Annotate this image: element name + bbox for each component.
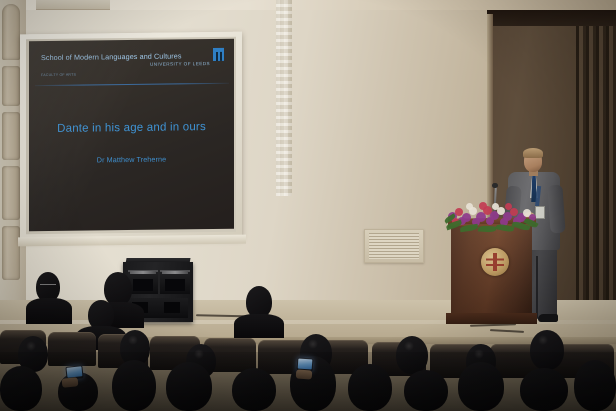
- podium-emblem: [481, 248, 509, 276]
- speaker-hair: [523, 148, 543, 158]
- foliage-frond: [460, 224, 479, 232]
- podium-emblem-characters: [486, 253, 504, 271]
- flower-bloom: [492, 203, 499, 210]
- audience-head: [0, 366, 42, 411]
- podium-base: [446, 313, 537, 324]
- loudspeaker-port: [133, 279, 153, 291]
- phone-screen: [298, 359, 313, 370]
- arch-moulding: [2, 66, 20, 106]
- slide-title: Dante in his age and in ours: [29, 121, 234, 136]
- hair-highlight: [404, 341, 414, 351]
- audience-head: [232, 368, 276, 411]
- hair-highlight: [308, 339, 318, 349]
- leeds-shield-logo-icon: [213, 48, 224, 61]
- arch-moulding: [2, 226, 20, 280]
- loudspeaker-cabinet: [128, 270, 158, 294]
- hair-highlight: [194, 349, 204, 359]
- arch-moulding: [2, 112, 20, 160]
- hand: [62, 377, 79, 388]
- bose-brand-label: [130, 271, 156, 274]
- bose-brand-label: [162, 271, 188, 274]
- projection-screen: School of Modern Languages and Cultures …: [29, 39, 234, 232]
- foliage-frond: [478, 225, 496, 232]
- backdrop-header-beam: [487, 10, 616, 26]
- seat: [48, 332, 96, 366]
- seat-highlight: [48, 332, 96, 341]
- loudspeaker-port: [165, 279, 185, 291]
- flower-bloom: [486, 217, 494, 225]
- textured-stone-column: [276, 0, 292, 196]
- hair-highlight: [538, 335, 548, 345]
- hair-highlight: [474, 349, 484, 359]
- loudspeaker-port: [164, 302, 180, 313]
- lecture-hall-photo: School of Modern Languages and Cultures …: [0, 0, 616, 411]
- audience-head: [574, 360, 616, 411]
- wall-air-vent: [364, 229, 424, 263]
- microphone-head-icon: [492, 183, 498, 188]
- hand: [296, 369, 313, 379]
- flower-bloom: [505, 203, 512, 210]
- audience-head: [166, 362, 212, 411]
- flower-bloom: [466, 203, 473, 210]
- floral-arrangement: [446, 196, 538, 232]
- slide-divider-rule: [35, 83, 229, 86]
- slide-department-subtext: FACULTY OF ARTS: [41, 73, 76, 77]
- phone-screen: [66, 366, 82, 378]
- arch-moulding: [2, 4, 20, 60]
- backdrop-pleats: [576, 26, 616, 326]
- loudspeaker-cabinet: [160, 270, 190, 294]
- audience-head: [458, 362, 504, 411]
- speaker-leg-split: [536, 256, 538, 318]
- flower-bloom: [479, 202, 487, 210]
- audience-head: [112, 360, 156, 411]
- speaker-shoe: [538, 314, 558, 322]
- seat-highlight: [204, 338, 256, 347]
- hair-highlight: [26, 341, 36, 351]
- vent-louvers: [369, 233, 419, 259]
- screen-glare: [29, 39, 234, 232]
- seat-highlight: [150, 336, 200, 345]
- glasses-icon: [40, 284, 56, 287]
- audience-shoulders: [234, 314, 284, 338]
- audience-head: [520, 368, 568, 411]
- audience-head: [348, 364, 392, 411]
- audience-shoulders: [26, 298, 72, 324]
- slide-logo-text: UNIVERSITY OF LEEDS: [150, 61, 210, 67]
- slide-subtitle: Dr Matthew Treherne: [29, 154, 234, 166]
- arch-moulding: [2, 166, 20, 220]
- audience-head: [404, 370, 448, 411]
- hair-highlight: [128, 335, 138, 345]
- ceiling-recess: [36, 0, 110, 10]
- audience-head: [104, 272, 132, 306]
